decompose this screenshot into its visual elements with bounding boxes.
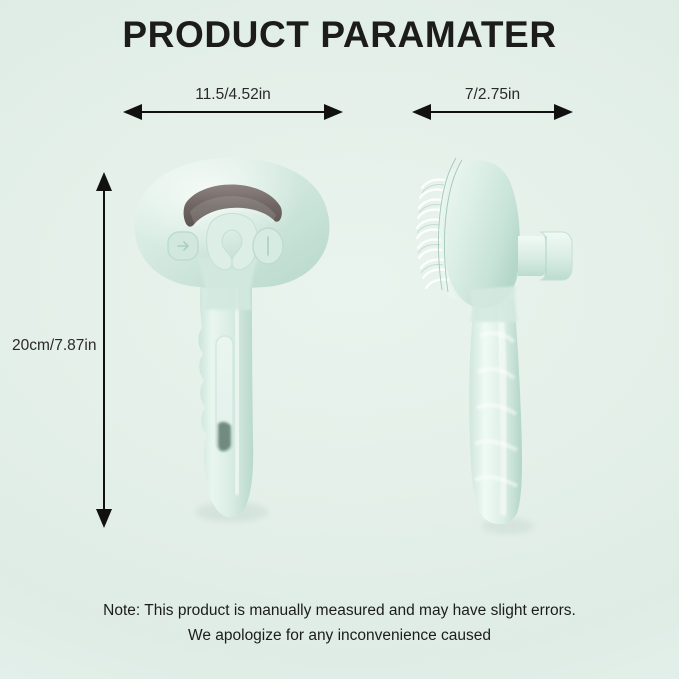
measurement-note: Note: This product is manually measured …: [0, 598, 679, 648]
height-arrow: [95, 172, 113, 528]
height-label: 20cm/7.87in: [12, 337, 96, 355]
product-front-view: [112, 140, 352, 540]
arrow-head-down-icon: [96, 509, 112, 528]
arrow-head-right-icon: [324, 104, 343, 120]
side-width-arrow: [412, 103, 573, 121]
arrow-shaft: [137, 111, 329, 113]
note-line-1: Note: This product is manually measured …: [0, 598, 679, 623]
nozzle-connector: [518, 236, 546, 276]
head: [441, 160, 520, 308]
arrow-head-right-icon: [554, 104, 573, 120]
product-side-view: [400, 140, 600, 540]
arrow-shaft: [103, 186, 105, 514]
arrow-shaft: [426, 111, 559, 113]
note-line-2: We apologize for any inconvenience cause…: [0, 623, 679, 648]
handle-highlight: [500, 312, 505, 512]
page-title: PRODUCT PARAMATER: [0, 14, 679, 56]
neck: [470, 286, 518, 322]
front-width-label: 11.5/4.52in: [123, 86, 343, 104]
side-width-label: 7/2.75in: [412, 86, 573, 104]
product-parameter-image: PRODUCT PARAMATER 11.5/4.52in 7/2.75in 2…: [0, 0, 679, 679]
front-width-arrow: [123, 103, 343, 121]
level-indicator-fill: [218, 422, 231, 451]
